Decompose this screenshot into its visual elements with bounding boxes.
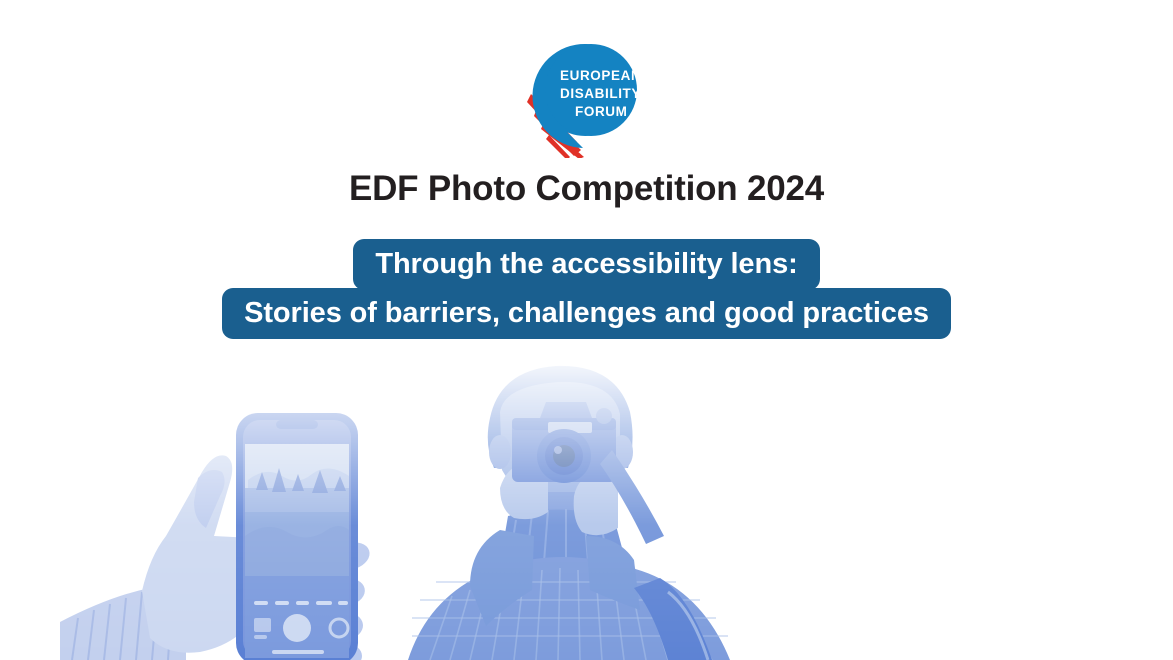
subtitle-line-2: Stories of barriers, challenges and good… bbox=[222, 288, 951, 339]
page-title: EDF Photo Competition 2024 bbox=[0, 167, 1173, 211]
european-disability-forum-logo: EUROPEAN DISABILITY FORUM bbox=[523, 38, 651, 158]
subtitle-banner: Through the accessibility lens: Stories … bbox=[0, 239, 1173, 339]
photo-man-with-film-camera bbox=[408, 366, 730, 660]
logo-text-line-2: DISABILITY bbox=[560, 86, 641, 101]
poster-canvas: EUROPEAN DISABILITY FORUM EDF Photo Comp… bbox=[0, 0, 1173, 660]
photo-collage bbox=[0, 360, 1173, 660]
logo-text-line-3: FORUM bbox=[575, 104, 628, 119]
logo-text-line-1: EUROPEAN bbox=[560, 68, 641, 83]
photo-hand-holding-smartphone bbox=[60, 413, 373, 660]
subtitle-line-1: Through the accessibility lens: bbox=[353, 239, 819, 290]
